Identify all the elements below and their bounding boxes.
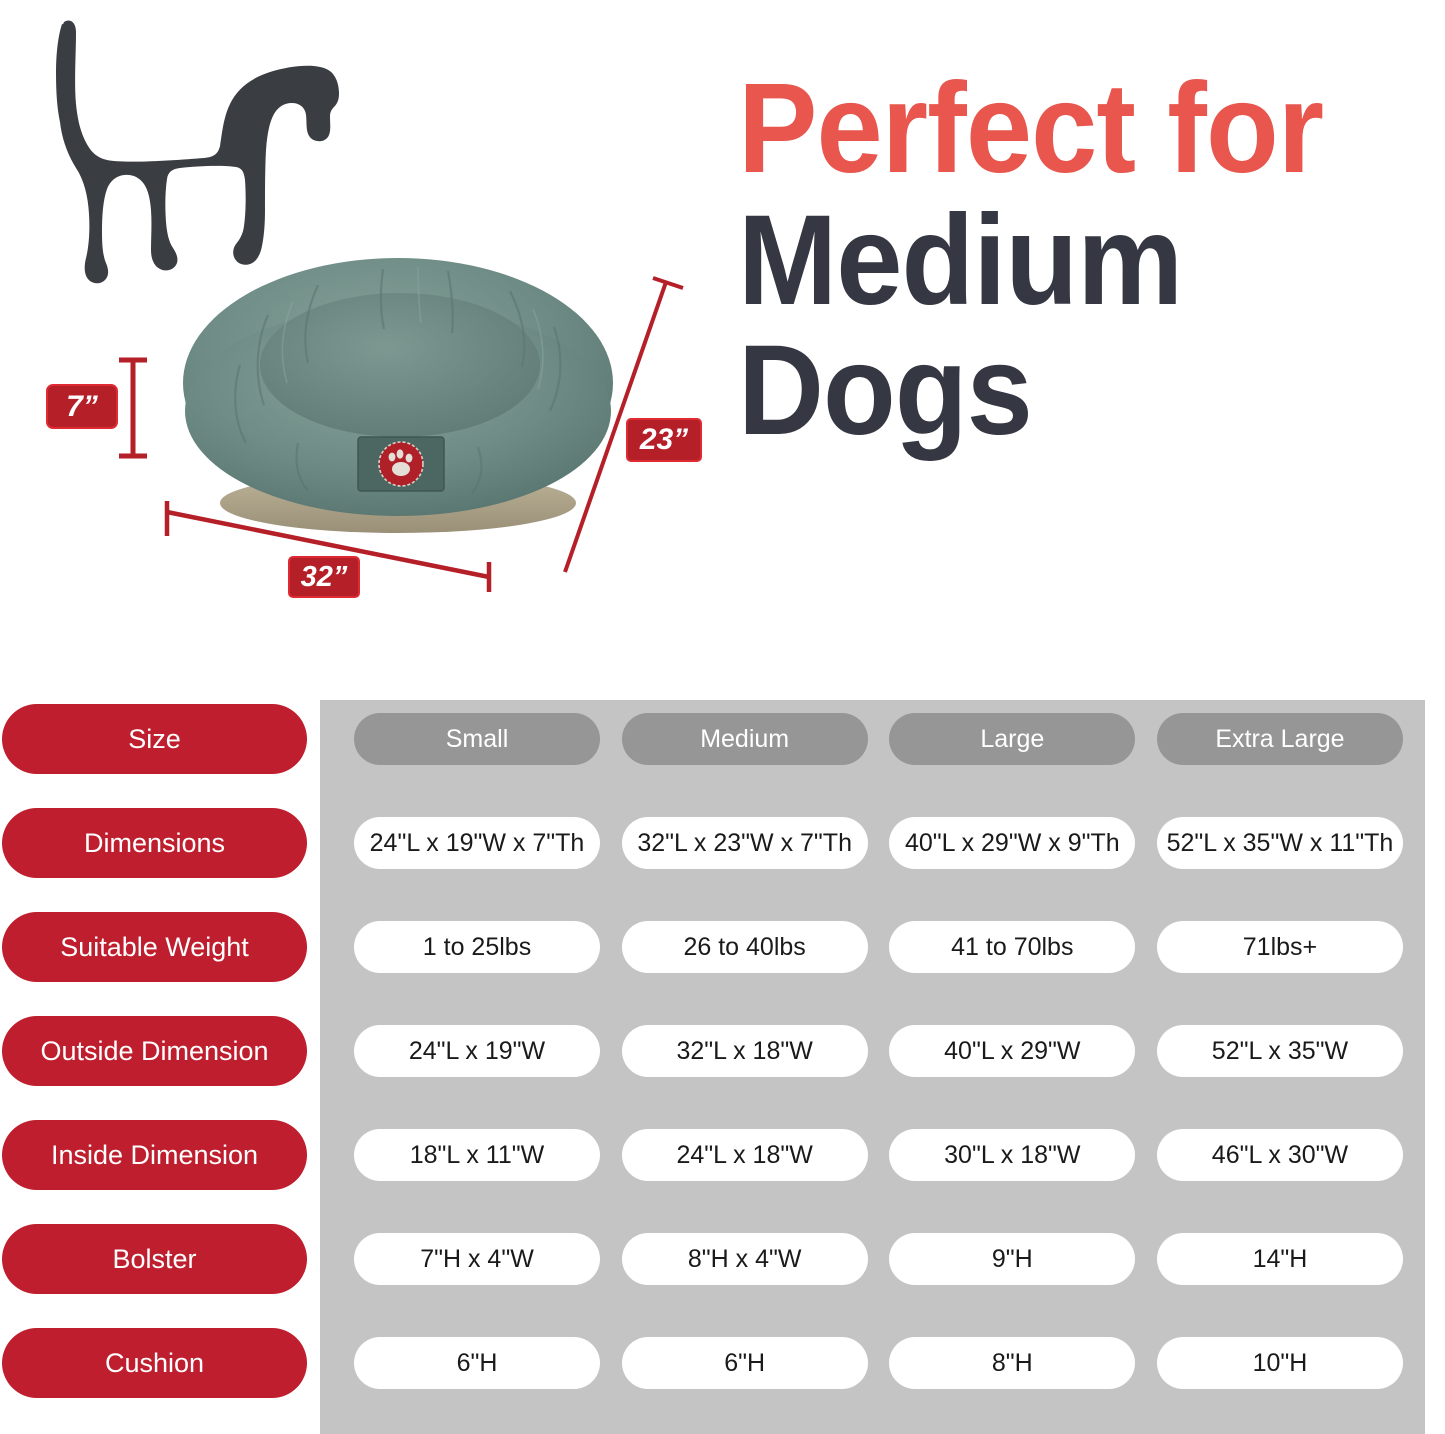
row-cells: 6"H 6"H 8"H 10"H [326, 1337, 1431, 1389]
cell-bolster-small: 7"H x 4"W [354, 1233, 600, 1285]
table-row: Cushion 6"H 6"H 8"H 10"H [0, 1328, 1445, 1398]
cell-outside-large: 40"L x 29"W [889, 1025, 1135, 1077]
cell-cushion-extra-large: 10"H [1157, 1337, 1403, 1389]
spec-table: Size Small Medium Large Extra Large Dime… [0, 690, 1445, 1434]
cell-cushion-medium: 6"H [622, 1337, 868, 1389]
column-header-extra-large: Extra Large [1157, 713, 1403, 765]
cell-dimensions-extra-large: 52"L x 35"W x 11"Th [1157, 817, 1403, 869]
cell-weight-extra-large: 71lbs+ [1157, 921, 1403, 973]
length-callout-badge: 32” [288, 556, 360, 598]
page-title: Perfect for Medium Dogs [738, 70, 1438, 449]
cell-dimensions-large: 40"L x 29"W x 9"Th [889, 817, 1135, 869]
row-cells: Small Medium Large Extra Large [326, 713, 1431, 765]
column-header-small: Small [354, 713, 600, 765]
column-header-large: Large [889, 713, 1135, 765]
headline-line-2: Medium [738, 202, 1389, 320]
cell-outside-extra-large: 52"L x 35"W [1157, 1025, 1403, 1077]
cell-inside-large: 30"L x 18"W [889, 1129, 1135, 1181]
cell-inside-medium: 24"L x 18"W [622, 1129, 868, 1181]
hero-section: 7” 23” 32” Perfect for Medium Dogs [0, 0, 1445, 690]
column-header-medium: Medium [622, 713, 868, 765]
cell-weight-medium: 26 to 40lbs [622, 921, 868, 973]
table-row: Suitable Weight 1 to 25lbs 26 to 40lbs 4… [0, 912, 1445, 982]
row-cells: 24"L x 19"W 32"L x 18"W 40"L x 29"W 52"L… [326, 1025, 1431, 1077]
headline-line-3: Dogs [738, 332, 1389, 450]
row-label-cushion: Cushion [2, 1328, 307, 1398]
table-row: Inside Dimension 18"L x 11"W 24"L x 18"W… [0, 1120, 1445, 1190]
row-cells: 7"H x 4"W 8"H x 4"W 9"H 14"H [326, 1233, 1431, 1285]
cell-inside-extra-large: 46"L x 30"W [1157, 1129, 1403, 1181]
row-label-dimensions: Dimensions [2, 808, 307, 878]
cell-cushion-small: 6"H [354, 1337, 600, 1389]
cell-weight-small: 1 to 25lbs [354, 921, 600, 973]
table-row: Outside Dimension 24"L x 19"W 32"L x 18"… [0, 1016, 1445, 1086]
table-row: Size Small Medium Large Extra Large [0, 704, 1445, 774]
headline-line-1: Perfect for [738, 70, 1389, 188]
cell-weight-large: 41 to 70lbs [889, 921, 1135, 973]
row-cells: 24"L x 19"W x 7"Th 32"L x 23"W x 7"Th 40… [326, 817, 1431, 869]
cell-cushion-large: 8"H [889, 1337, 1135, 1389]
row-cells: 1 to 25lbs 26 to 40lbs 41 to 70lbs 71lbs… [326, 921, 1431, 973]
cell-inside-small: 18"L x 11"W [354, 1129, 600, 1181]
cell-bolster-extra-large: 14"H [1157, 1233, 1403, 1285]
row-label-suitable-weight: Suitable Weight [2, 912, 307, 982]
table-row: Bolster 7"H x 4"W 8"H x 4"W 9"H 14"H [0, 1224, 1445, 1294]
row-label-outside-dimension: Outside Dimension [2, 1016, 307, 1086]
height-callout-badge: 7” [46, 384, 118, 429]
cell-bolster-large: 9"H [889, 1233, 1135, 1285]
row-cells: 18"L x 11"W 24"L x 18"W 30"L x 18"W 46"L… [326, 1129, 1431, 1181]
infographic-page: 7” 23” 32” Perfect for Medium Dogs Size … [0, 0, 1445, 1434]
cell-outside-small: 24"L x 19"W [354, 1025, 600, 1077]
width-callout-badge: 23” [626, 418, 702, 462]
row-label-bolster: Bolster [2, 1224, 307, 1294]
row-label-inside-dimension: Inside Dimension [2, 1120, 307, 1190]
row-label-size: Size [2, 704, 307, 774]
cell-bolster-medium: 8"H x 4"W [622, 1233, 868, 1285]
cell-dimensions-small: 24"L x 19"W x 7"Th [354, 817, 600, 869]
table-row: Dimensions 24"L x 19"W x 7"Th 32"L x 23"… [0, 808, 1445, 878]
cell-outside-medium: 32"L x 18"W [622, 1025, 868, 1077]
cell-dimensions-medium: 32"L x 23"W x 7"Th [622, 817, 868, 869]
